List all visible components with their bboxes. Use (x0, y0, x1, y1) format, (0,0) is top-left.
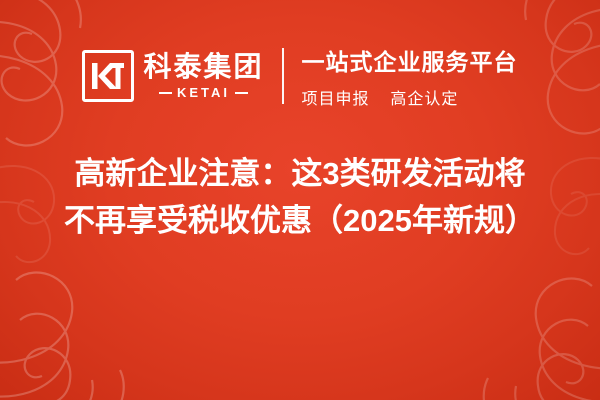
slogan-sub: 项目申报 高企认定 (302, 85, 518, 109)
promo-banner: 科泰集团 KETAI 一站式企业服务平台 项目申报 高企认定 (0, 0, 600, 400)
slogan-sub-item-2: 高企认定 (390, 91, 458, 108)
brand-logo-text: 科泰集团 KETAI (143, 53, 263, 99)
brand-name-en: KETAI (159, 86, 248, 99)
brand-name-cn: 科泰集团 (143, 53, 263, 81)
slogan-sub-item-1: 项目申报 (302, 91, 370, 108)
kt-monogram-icon (82, 50, 134, 102)
logo-rule-right (235, 92, 248, 94)
slogan-block: 一站式企业服务平台 项目申报 高企认定 (302, 43, 518, 109)
logo-rule-left (159, 92, 172, 94)
brand-logo: 科泰集团 KETAI (82, 50, 263, 102)
banner-header: 科泰集团 KETAI 一站式企业服务平台 项目申报 高企认定 (0, 38, 600, 114)
banner-content: 科泰集团 KETAI 一站式企业服务平台 项目申报 高企认定 (0, 0, 600, 400)
title-line-1: 高新企业注意：这3类研发活动将 (0, 150, 600, 197)
banner-title: 高新企业注意：这3类研发活动将 不再享受税收优惠（2025年新规） (0, 150, 600, 244)
title-line-2: 不再享受税收优惠（2025年新规） (0, 197, 600, 244)
slogan-main: 一站式企业服务平台 (302, 43, 518, 77)
brand-name-en-text: KETAI (177, 86, 230, 99)
header-divider (282, 48, 284, 104)
